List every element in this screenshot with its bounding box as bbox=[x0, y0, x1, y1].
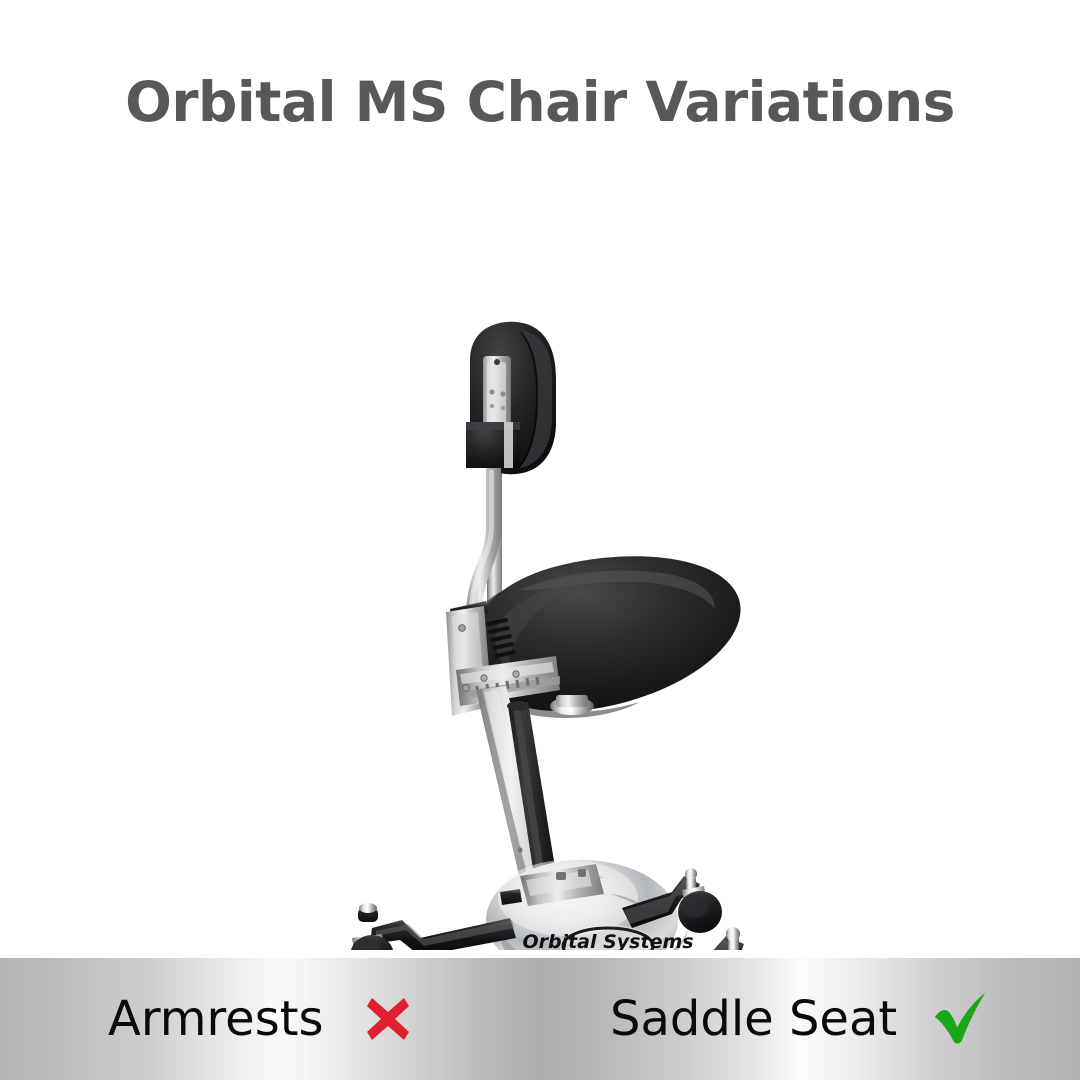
cross-mark-icon bbox=[360, 991, 416, 1047]
page-title: Orbital MS Chair Variations bbox=[125, 70, 955, 134]
feature-label-saddle-seat: Saddle Seat bbox=[610, 991, 897, 1047]
product-feature-card: Orbital MS Chair Variations bbox=[0, 0, 1080, 1080]
hub-logo-text: Orbital Systems bbox=[522, 931, 693, 950]
feature-comparison-bar: Armrests Saddle Seat bbox=[0, 958, 1080, 1080]
orbital-ms-chair-photo: Orbital Systems bbox=[0, 150, 1080, 950]
feature-item-armrests: Armrests bbox=[108, 958, 416, 1080]
feature-label-armrests: Armrests bbox=[108, 991, 324, 1047]
feature-item-saddle-seat: Saddle Seat bbox=[610, 958, 989, 1080]
check-mark-icon bbox=[933, 991, 989, 1047]
product-image-stage: Orbital Systems bbox=[0, 150, 1080, 950]
page-title-bar: Orbital MS Chair Variations bbox=[0, 62, 1080, 142]
